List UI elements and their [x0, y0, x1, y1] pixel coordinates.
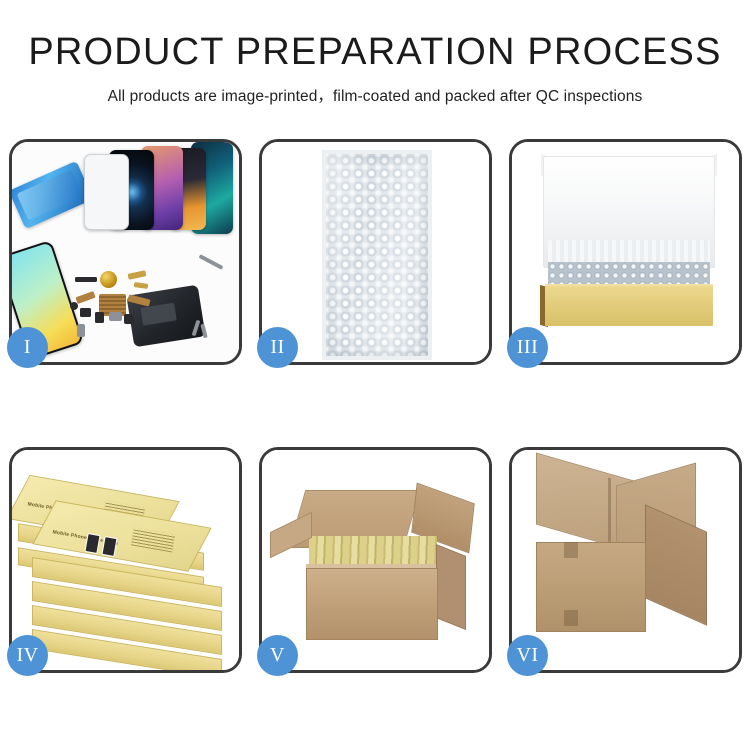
product-preparation-infographic: PRODUCT PREPARATION PROCESS All products…	[0, 0, 750, 750]
spare-part	[77, 324, 85, 337]
steps-grid: I II III	[9, 139, 742, 673]
step-badge-1: I	[7, 327, 48, 368]
step-panel-5[interactable]: V	[259, 447, 492, 673]
step-panel-6[interactable]: VI	[509, 447, 742, 673]
step-image-2	[262, 142, 489, 362]
step-image-4: Mobile Phone Spare Parts Mobile Phone Sp…	[12, 450, 239, 670]
spare-part	[109, 312, 122, 321]
step-badge-6: VI	[507, 635, 548, 676]
step-panel-1[interactable]: I	[9, 139, 242, 365]
carton-side-panel	[436, 544, 466, 630]
spare-part	[80, 308, 91, 317]
step-panel-4[interactable]: Mobile Phone Spare Parts Mobile Phone Sp…	[9, 447, 242, 673]
step-image-5	[262, 450, 489, 670]
step-badge-3: III	[507, 327, 548, 368]
page-title: PRODUCT PREPARATION PROCESS	[0, 33, 750, 73]
carton-front-panel	[536, 542, 646, 632]
step-panel-2[interactable]: II	[259, 139, 492, 365]
step-image-3	[512, 142, 739, 362]
spare-part	[70, 302, 78, 310]
carton-front-panel	[306, 568, 438, 640]
carton-seam-tab-bottom	[564, 610, 578, 626]
box-stack: Mobile Phone Spare Parts Mobile Phone Sp…	[18, 468, 238, 663]
glass-screen-protector	[84, 154, 129, 230]
step-image-6	[512, 450, 739, 670]
spare-part	[75, 277, 97, 282]
page-subtitle: All products are image-printed，film-coat…	[0, 84, 750, 106]
phone-back-housing	[126, 285, 205, 348]
spare-part	[95, 312, 104, 323]
step-badge-4: IV	[7, 635, 48, 676]
carton-seam-tab-top	[564, 542, 578, 558]
step-panel-3[interactable]: III	[509, 139, 742, 365]
header: PRODUCT PREPARATION PROCESS All products…	[0, 0, 750, 106]
step-image-1	[12, 142, 239, 362]
vibration-motor-part	[100, 271, 117, 288]
spare-part	[124, 314, 134, 324]
plastic-sheen	[326, 154, 428, 356]
kraft-box-front	[545, 286, 713, 326]
step-badge-5: V	[257, 635, 298, 676]
carton-top-seam	[608, 478, 611, 543]
step-badge-2: II	[257, 327, 298, 368]
